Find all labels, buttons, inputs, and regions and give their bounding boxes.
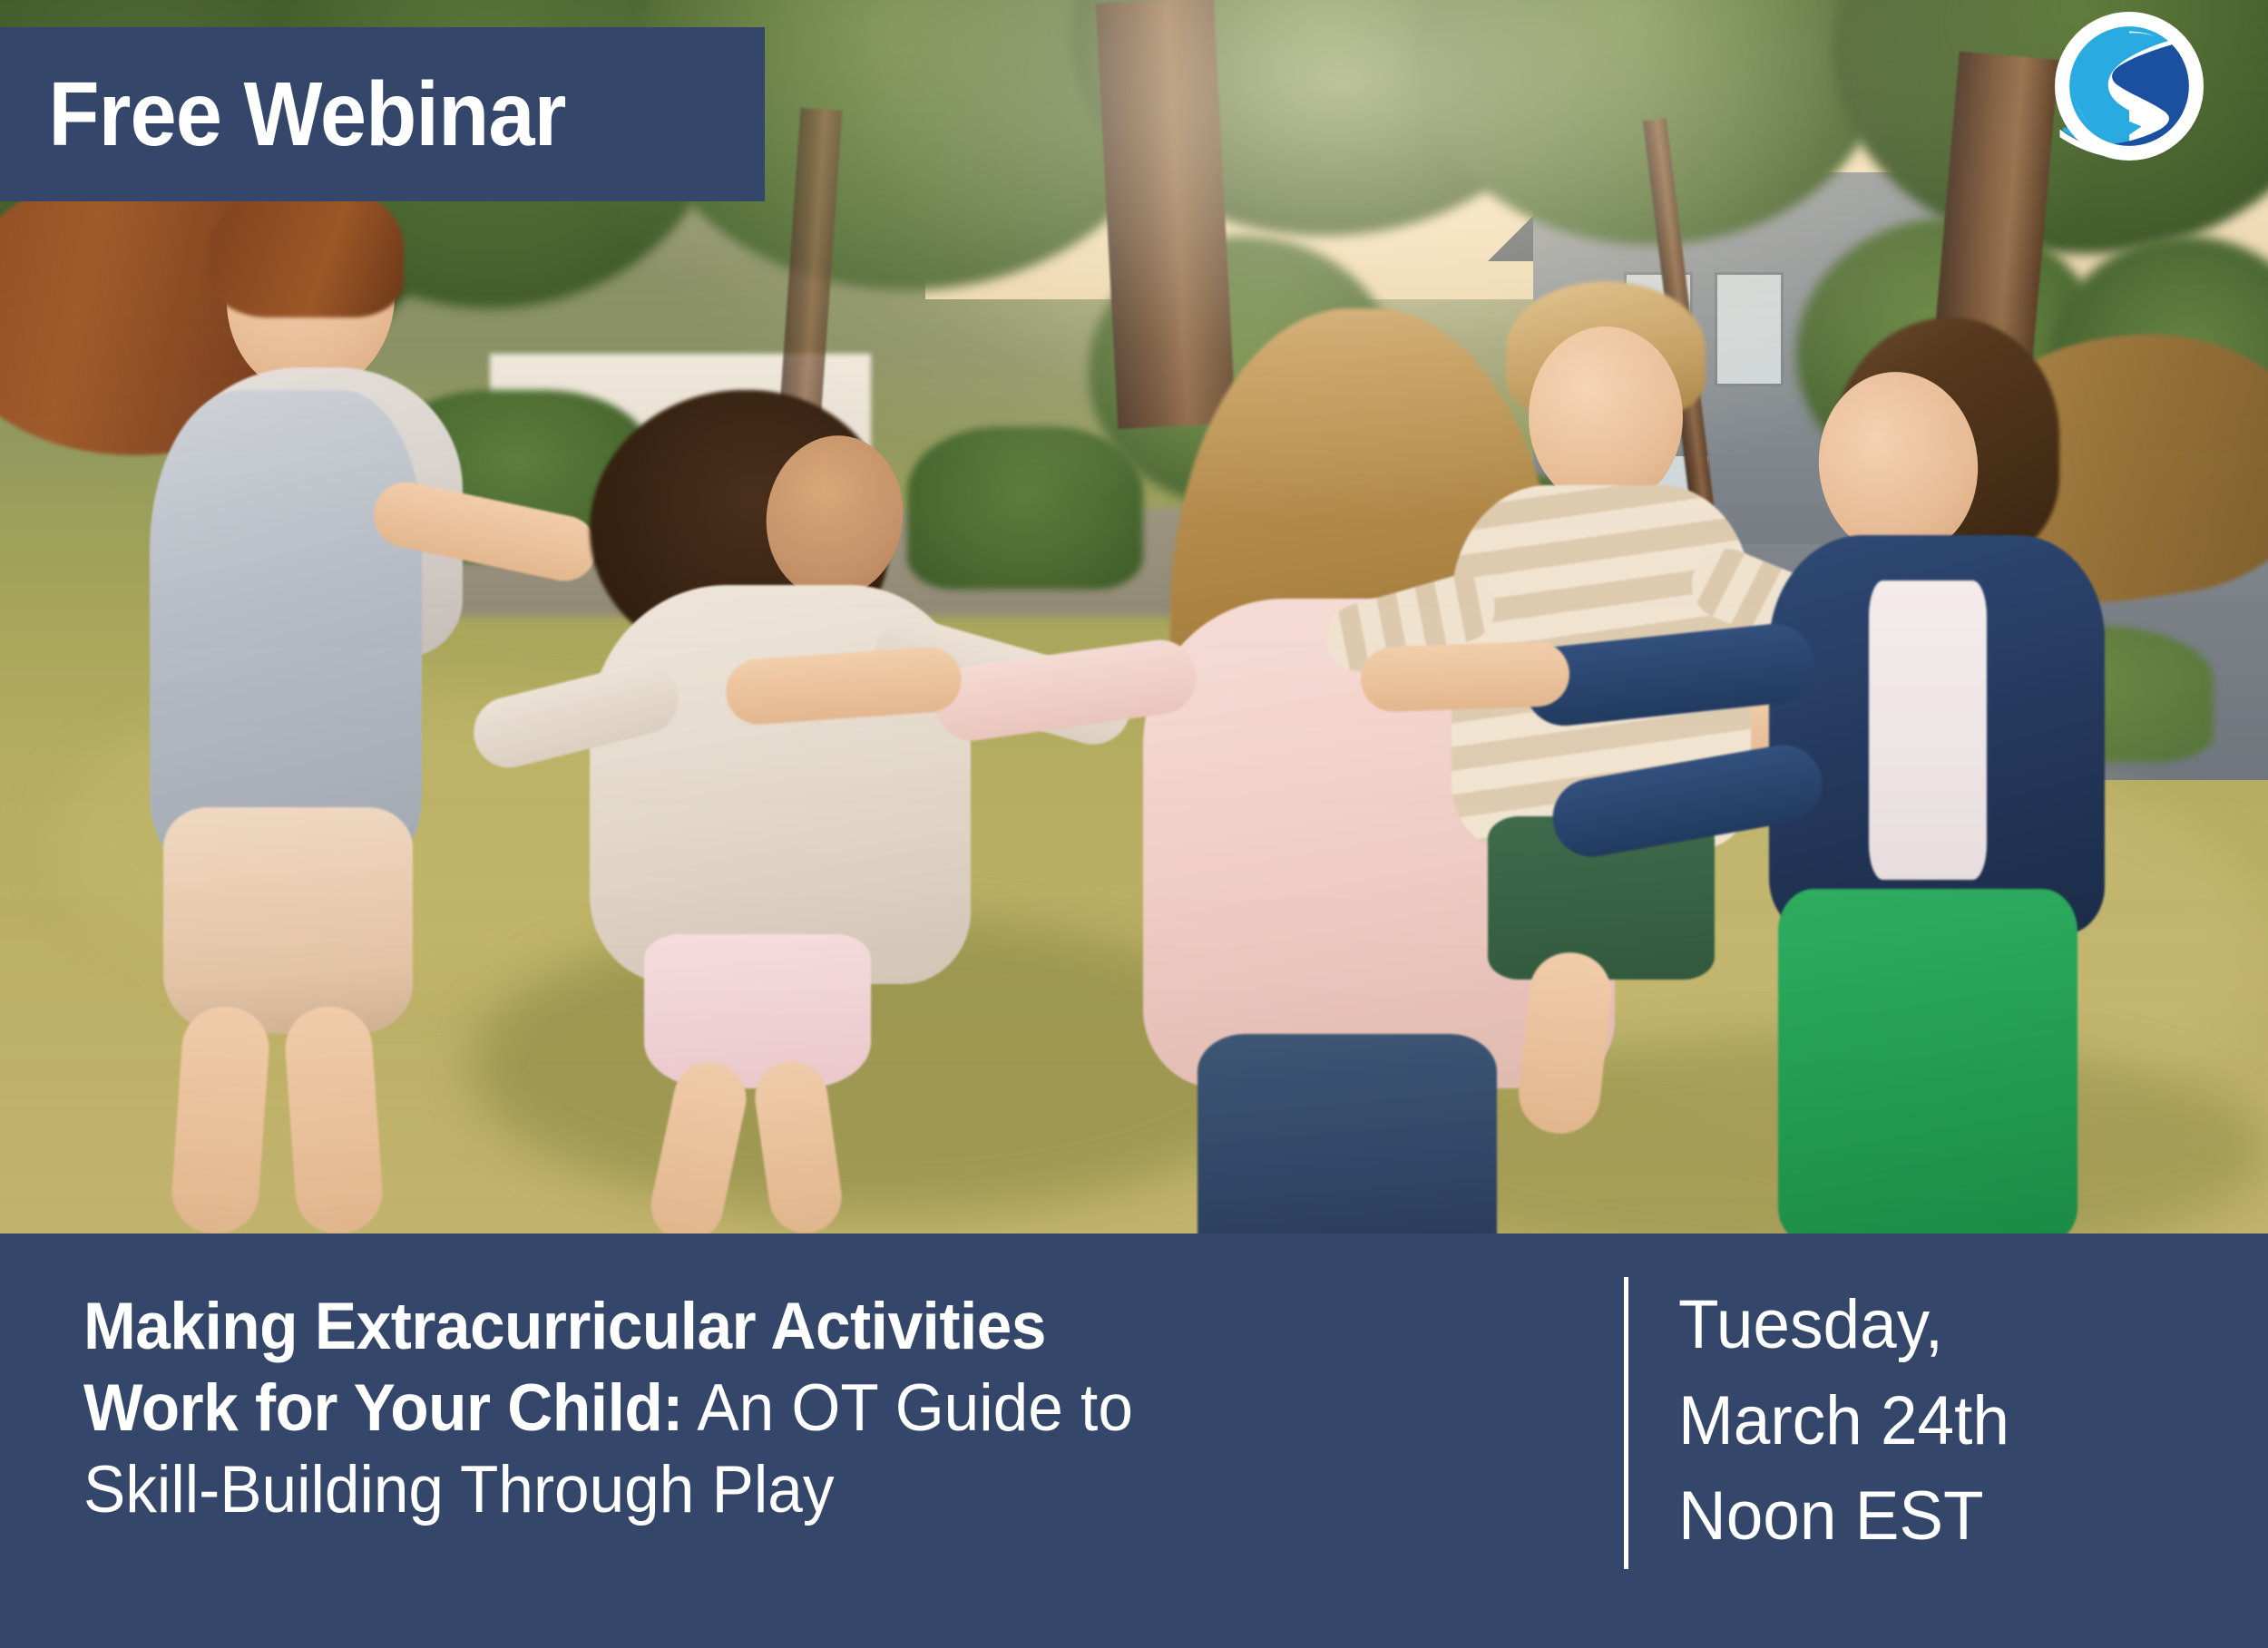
webinar-title-block: Making Extracurricular Activities Work f… [0,1234,1624,1530]
title-line-1-bold: Making Extracurricular Activities [83,1290,1046,1363]
webinar-date-block: Tuesday, March 24th Noon EST [1678,1277,2223,1565]
webinar-promo-banner: Free Webinar Making Extracurricular Acti… [0,0,2268,1648]
date-line-day: Tuesday, [1678,1277,2201,1373]
title-line-3: Skill-Building Through Play [83,1449,1547,1531]
company-s-logo[interactable] [2052,9,2206,163]
free-webinar-badge: Free Webinar [0,27,765,201]
title-line-3-light: Skill-Building Through Play [83,1453,834,1526]
footer-divider [1624,1277,1628,1569]
date-line-date: March 24th [1678,1373,2201,1469]
title-line-1: Making Extracurricular Activities [83,1286,1547,1368]
footer-bar: Making Extracurricular Activities Work f… [0,1234,2268,1648]
free-webinar-label: Free Webinar [0,69,565,160]
title-line-2-bold: Work for Your Child: [83,1371,683,1445]
date-line-time: Noon EST [1678,1468,2201,1565]
title-line-2-light: An OT Guide to [683,1371,1133,1445]
title-line-2: Work for Your Child: An OT Guide to [83,1368,1547,1449]
